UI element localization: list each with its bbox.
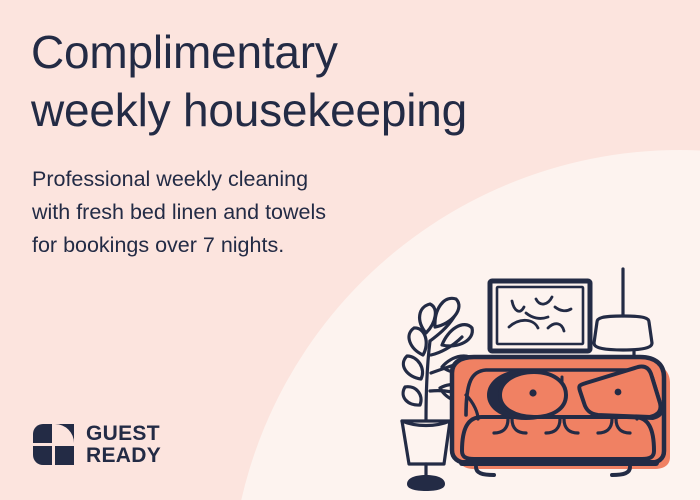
pendant-lamp-icon <box>594 269 652 367</box>
coral-sofa-icon <box>452 357 670 475</box>
guestready-quadrant-mark-icon <box>32 423 75 467</box>
guestready-wordmark: GUEST READY <box>86 423 161 466</box>
framed-picture-icon <box>490 281 590 351</box>
headline: Complimentary weekly housekeeping <box>31 24 631 140</box>
subcopy: Professional weekly cleaning with fresh … <box>32 163 452 262</box>
logo-line-1: GUEST <box>86 423 161 445</box>
banner-content: Complimentary weekly housekeeping Profes… <box>0 0 700 500</box>
logo-line-2: READY <box>86 445 161 467</box>
promo-banner: Complimentary weekly housekeeping Profes… <box>0 0 700 500</box>
guestready-logo: GUEST READY <box>32 423 161 467</box>
living-room-illustration <box>390 255 700 500</box>
round-cushion-icon <box>487 369 566 420</box>
